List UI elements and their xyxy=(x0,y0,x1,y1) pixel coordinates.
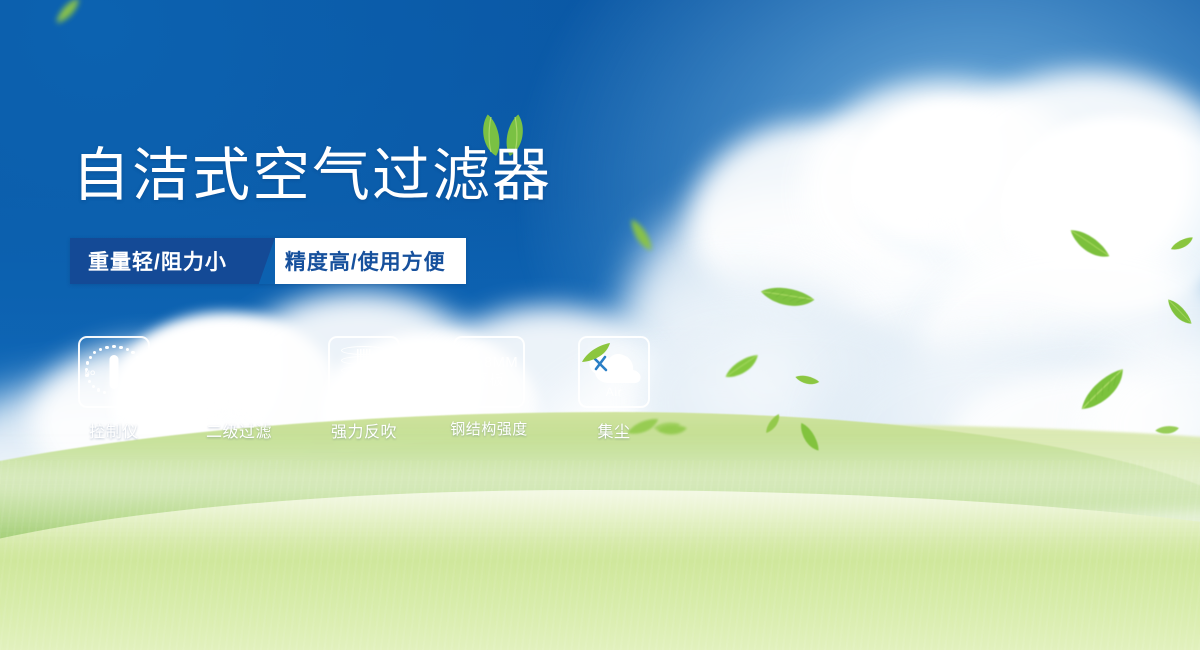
air-cloud-icon: Air xyxy=(583,344,645,400)
feature-item-backblow[interactable]: 强力反吹 xyxy=(328,336,400,442)
steel-plate-text-icon: 3〜8MM 钢板 xyxy=(460,354,518,389)
feature-item-steel-strength[interactable]: 3〜8MM 钢板 钢结构强度 xyxy=(453,336,525,442)
filter-stack-icon xyxy=(338,345,390,399)
pressure-text-icon: 0.6〜0.8 MPA xyxy=(210,354,269,389)
field-haze xyxy=(0,430,1200,540)
feature-icon-box: 3〜8MM 钢板 xyxy=(453,336,525,408)
product-banner: 自洁式空气过滤器 重量轻/阻力小 精度高/使用方便 xyxy=(0,0,1200,650)
feature-icon-box xyxy=(328,336,400,408)
feature-item-secondary-filter[interactable]: 0.6〜0.8 MPA 二级过滤 xyxy=(203,336,275,442)
feature-label: 钢结构强度 xyxy=(450,418,528,439)
gauge-dial-icon: NO OFF xyxy=(85,343,143,401)
air-label: Air xyxy=(583,385,645,399)
gauge-needle-icon xyxy=(110,355,119,389)
subtitle-left: 重量轻/阻力小 xyxy=(70,238,249,284)
feature-icon-box: 0.6〜0.8 MPA xyxy=(203,336,275,408)
subtitle-divider-slash xyxy=(249,238,275,284)
pressure-value: 0.6〜0.8 xyxy=(210,354,269,371)
steel-thickness: 3〜8MM xyxy=(460,354,518,371)
subtitle-right: 精度高/使用方便 xyxy=(275,238,466,284)
page-title: 自洁式空气过滤器 xyxy=(72,146,552,207)
gauge-off-label: OFF xyxy=(128,387,142,394)
feature-label: 二级过滤 xyxy=(206,418,272,442)
feature-item-dust-collection[interactable]: Air 集尘 xyxy=(578,336,650,442)
feature-icon-box: Air xyxy=(578,336,650,408)
feature-label: 控制仪 xyxy=(89,418,139,442)
icon-leaf-accent-icon xyxy=(581,342,611,369)
steel-material: 钢板 xyxy=(474,372,505,389)
feature-icon-box: NO OFF xyxy=(78,336,150,408)
gauge-on-label: NO xyxy=(85,370,96,377)
feature-list: NO OFF 控制仪 0.6〜0.8 MPA 二级过滤 xyxy=(78,336,650,442)
feature-label: 强力反吹 xyxy=(331,418,397,442)
feature-item-controller[interactable]: NO OFF 控制仪 xyxy=(78,336,150,442)
pressure-unit: MPA xyxy=(223,372,255,389)
feature-label: 集尘 xyxy=(597,418,630,442)
subtitle-bar: 重量轻/阻力小 精度高/使用方便 xyxy=(70,238,466,284)
